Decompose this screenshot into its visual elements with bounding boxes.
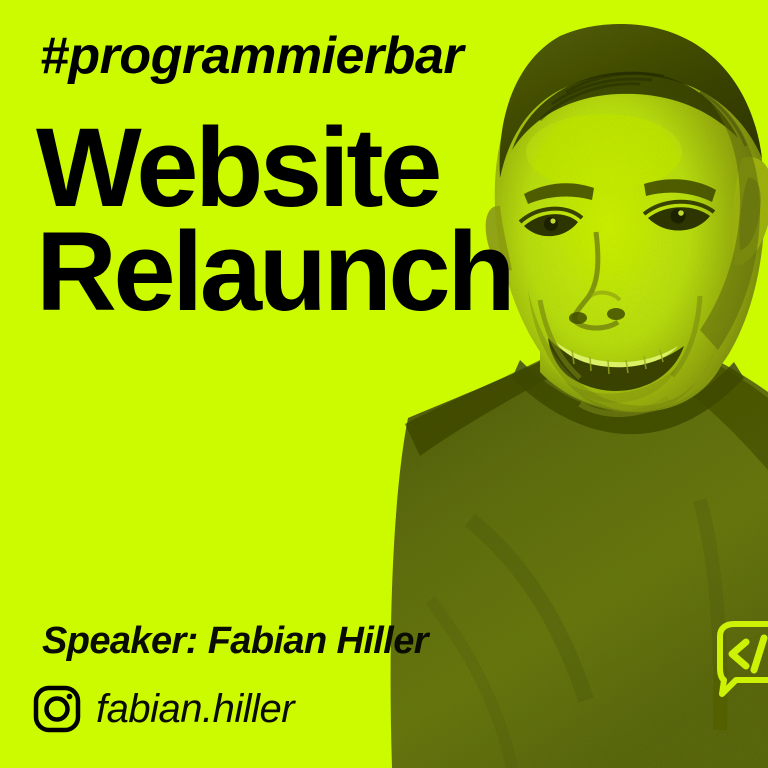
page-title: Website Relaunch	[36, 116, 512, 324]
speaker-line: Speaker: Fabian Hiller	[42, 622, 428, 660]
instagram-icon	[32, 684, 82, 734]
title-line-2: Relaunch	[36, 220, 512, 324]
poster-text-layer: #programmierbar Website Relaunch Speaker…	[0, 0, 768, 768]
hashtag-programmierbar: #programmierbar	[40, 30, 463, 82]
title-line-1: Website	[36, 116, 512, 220]
instagram-handle-text: fabian.hiller	[96, 689, 294, 729]
podcast-episode-poster: #programmierbar Website Relaunch Speaker…	[0, 0, 768, 768]
instagram-handle-row: fabian.hiller	[32, 684, 294, 734]
